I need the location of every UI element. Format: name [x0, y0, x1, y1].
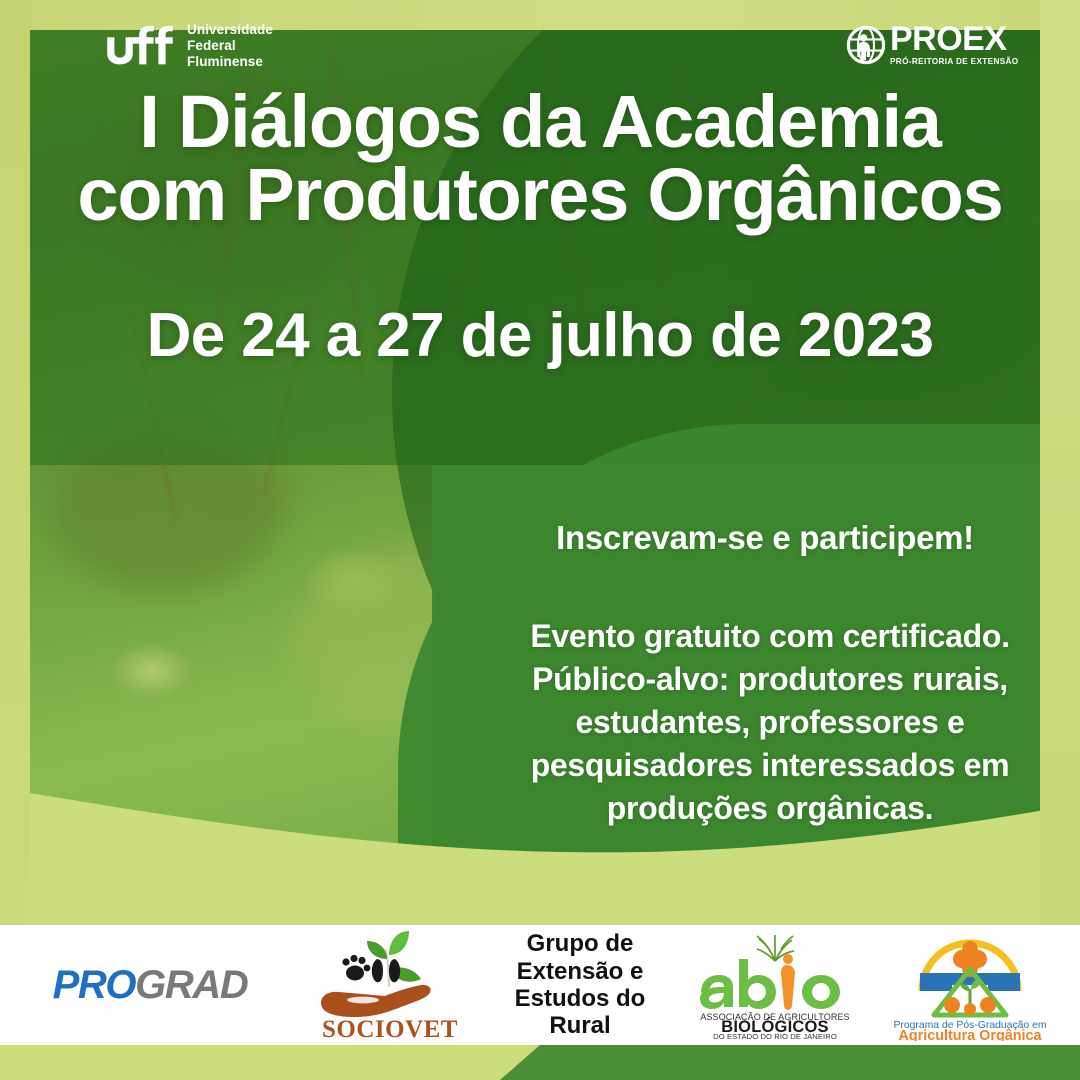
- uff-logo-icon: [104, 26, 176, 66]
- prograd-part-1: PRO: [53, 963, 135, 1007]
- poster-description: Evento gratuito com certificado. Público…: [470, 615, 1070, 829]
- grupo-extensao-logo: Grupo de Extensão e Estudos do Rural: [480, 925, 680, 1045]
- blurb-line-4: pesquisadores interessados em: [470, 744, 1070, 787]
- geer-line-2: Extensão e: [515, 958, 646, 985]
- bottom-strip: [0, 1045, 1080, 1080]
- geer-line-1: Grupo de: [515, 930, 646, 957]
- abio-caption-3: DO ESTADO DO RIO DE JANEIRO: [713, 1032, 837, 1039]
- blurb-line-1: Evento gratuito com certificado.: [470, 615, 1070, 658]
- prograd-wordmark: PROGRAD: [53, 963, 248, 1008]
- geer-line-4: Rural: [515, 1012, 646, 1039]
- proex-subtitle: PRÓ-REITORIA DE EXTENSÃO: [890, 57, 1019, 66]
- poster-root: Universidade Federal Fluminense PROEX PR…: [0, 0, 1080, 1080]
- uff-logo: Universidade Federal Fluminense: [104, 22, 273, 70]
- svg-text:SOCIOVET: SOCIOVET: [322, 1016, 458, 1041]
- geer-line-3: Estudos do: [515, 985, 646, 1012]
- proex-logo: PROEX PRÓ-REITORIA DE EXTENSÃO: [846, 24, 1019, 66]
- abio-wordmark-icon: ASSOCIAÇÃO DE AGRICULTORES BIOLÓGICOS DO…: [691, 931, 859, 1039]
- proex-wordmark: PROEX: [890, 24, 1007, 55]
- ppg-emblem-icon: Programa de Pós-Graduação em Agricultura…: [880, 929, 1060, 1041]
- blurb-line-2: Público-alvo: produtores rurais,: [470, 658, 1070, 701]
- poster-title: I Diálogos da Academia com Produtores Or…: [0, 86, 1080, 231]
- title-line-1: I Diálogos da Academia: [139, 80, 941, 163]
- ppg-caption-2: Agricultura Orgânica: [898, 1028, 1042, 1041]
- uff-line-3: Fluminense: [187, 54, 273, 70]
- proex-globe-icon: [846, 25, 886, 65]
- poster-dateline: De 24 a 27 de julho de 2023: [0, 305, 1080, 367]
- partner-logos: PROGRAD: [0, 925, 1080, 1045]
- grupo-extensao-wordmark: Grupo de Extensão e Estudos do Rural: [515, 930, 646, 1039]
- blurb-line-3: estudantes, professores e: [470, 701, 1070, 744]
- abio-logo: ASSOCIAÇÃO DE AGRICULTORES BIOLÓGICOS DO…: [680, 925, 870, 1045]
- prograd-part-2: GRAD: [135, 963, 247, 1007]
- uff-wordmark: Universidade Federal Fluminense: [187, 22, 273, 70]
- uff-line-1: Universidade: [187, 22, 273, 38]
- uff-line-2: Federal: [187, 38, 273, 54]
- hand-sprout-icon: SOCIOVET: [315, 929, 465, 1041]
- sociovet-logo: SOCIOVET: [300, 925, 480, 1045]
- blurb-line-5: produções orgânicas.: [470, 787, 1070, 830]
- ppg-agricultura-organica-logo: Programa de Pós-Graduação em Agricultura…: [870, 925, 1070, 1045]
- title-line-2: com Produtores Orgânicos: [26, 159, 1054, 232]
- proex-text: PROEX PRÓ-REITORIA DE EXTENSÃO: [890, 24, 1019, 66]
- prograd-logo: PROGRAD: [0, 925, 300, 1045]
- call-to-action: Inscrevam-se e participem!: [470, 520, 1060, 557]
